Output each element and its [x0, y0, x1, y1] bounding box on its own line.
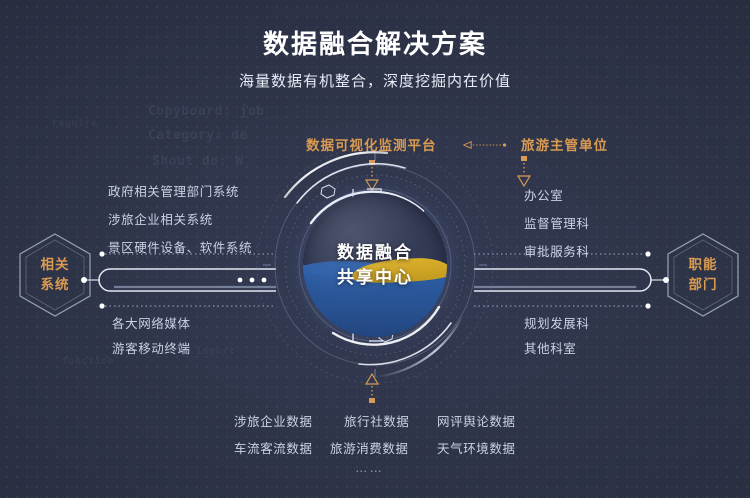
left-item-0[interactable]: 政府相关管理部门系统	[108, 181, 239, 200]
background-code-text: Category: de	[148, 128, 248, 143]
bottom-item-5[interactable]: 天气环境数据	[437, 438, 516, 457]
label-tourism-authority[interactable]: 旅游主管单位	[521, 134, 608, 154]
right-item-1[interactable]: 监督管理科	[524, 213, 590, 232]
page-subtitle: 海量数据有机整合，深度挖掘内在价值	[0, 70, 750, 91]
right-item-4[interactable]: 其他科室	[524, 338, 576, 357]
core-sphere	[303, 193, 447, 337]
hexagon-right-line2: 部门	[689, 275, 718, 295]
arrow-down-authority-to-departments	[514, 156, 534, 188]
left-item-3[interactable]: 各大网络媒体	[112, 313, 191, 332]
right-item-2[interactable]: 审批服务科	[524, 241, 590, 260]
sphere-gloss	[303, 193, 447, 337]
background-code-text: import	[196, 346, 235, 357]
hexagon-functional-departments[interactable]: 职能 部门	[664, 231, 742, 319]
bottom-item-2[interactable]: 网评舆论数据	[437, 411, 516, 430]
background-code-text: Shout do: W	[152, 154, 244, 169]
left-item-1[interactable]: 涉旅企业相关系统	[108, 209, 213, 228]
bottom-item-4[interactable]: 旅游消费数据	[330, 438, 409, 457]
hexagon-left-line1: 相关	[41, 255, 70, 275]
bottom-item-1[interactable]: 旅行社数据	[344, 411, 410, 430]
page-title: 数据融合解决方案	[0, 24, 750, 61]
left-item-2[interactable]: 景区硬件设备、软件系统	[108, 237, 252, 256]
right-item-3[interactable]: 规划发展科	[524, 313, 590, 332]
infographic-canvas: Copyboard: job Category: de Shout do: W …	[0, 0, 750, 498]
bottom-ellipsis: ……	[355, 461, 384, 475]
hexagon-right-label: 职能 部门	[664, 231, 742, 319]
bottom-item-0[interactable]: 涉旅企业数据	[234, 411, 313, 430]
left-item-4[interactable]: 游客移动终端	[112, 338, 191, 357]
background-code-text: require	[52, 118, 98, 129]
hexagon-left-line2: 系统	[41, 275, 70, 295]
hexagon-right-line1: 职能	[689, 255, 718, 275]
background-code-text: Copyboard: job	[148, 104, 265, 119]
background-code-text: function	[62, 356, 114, 367]
data-fusion-core[interactable]: 数据融合 共享中心	[255, 145, 495, 385]
bottom-item-3[interactable]: 车流客流数据	[234, 438, 313, 457]
